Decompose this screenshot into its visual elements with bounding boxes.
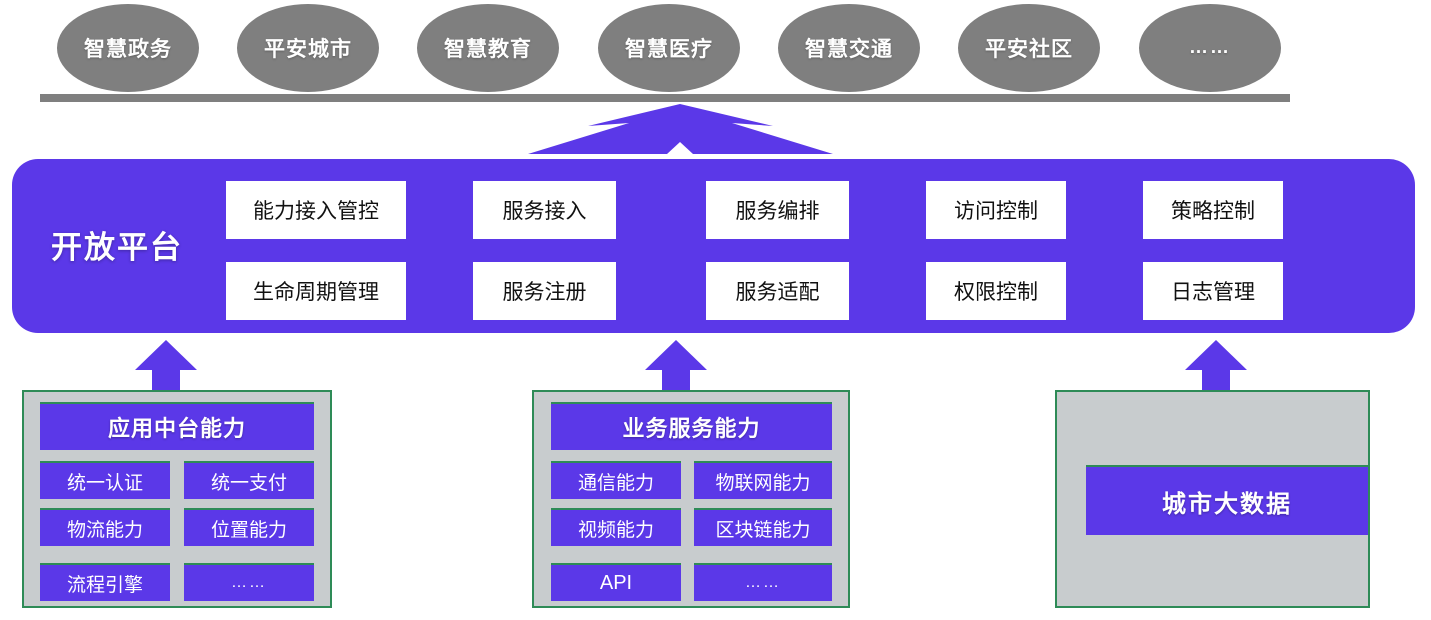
platform-box-permission-control[interactable]: 权限控制 xyxy=(926,262,1066,320)
app-ellipse-2[interactable]: 智慧教育 xyxy=(417,4,559,92)
app-ellipse-label: 智慧政务 xyxy=(84,33,172,63)
capability-tile-logistics[interactable]: 物流能力 xyxy=(40,508,170,546)
platform-box-lifecycle-management[interactable]: 生命周期管理 xyxy=(226,262,406,320)
app-ellipse-3[interactable]: 智慧医疗 xyxy=(598,4,740,92)
capability-tile-communication[interactable]: 通信能力 xyxy=(551,461,681,499)
app-ellipse-label: 平安社区 xyxy=(985,33,1073,63)
app-ellipse-1[interactable]: 平安城市 xyxy=(237,4,379,92)
platform-box-capability-access-control[interactable]: 能力接入管控 xyxy=(226,181,406,239)
platform-box-access-control[interactable]: 访问控制 xyxy=(926,181,1066,239)
platform-box-service-access[interactable]: 服务接入 xyxy=(473,181,616,239)
capability-tile-blockchain[interactable]: 区块链能力 xyxy=(694,508,832,546)
platform-box-label: 服务编排 xyxy=(736,195,820,225)
capability-card-header-label: 城市大数据 xyxy=(1162,484,1292,519)
app-ellipse-label: …… xyxy=(1189,37,1231,59)
platform-box-label: 服务接入 xyxy=(503,195,587,225)
capability-tile-label: 统一支付 xyxy=(211,468,287,495)
capability-tile-process-engine[interactable]: 流程引擎 xyxy=(40,563,170,601)
app-ellipse-0[interactable]: 智慧政务 xyxy=(57,4,199,92)
application-layer-baseline xyxy=(40,94,1290,102)
capability-tile-label: API xyxy=(600,572,632,595)
capability-tile-label: 流程引擎 xyxy=(67,570,143,597)
platform-box-label: 服务注册 xyxy=(503,276,587,306)
capability-card-header-city-bigdata[interactable]: 城市大数据 xyxy=(1086,465,1368,535)
platform-box-label: 服务适配 xyxy=(736,276,820,306)
app-ellipse-label: 平安城市 xyxy=(264,33,352,63)
capability-tile-video[interactable]: 视频能力 xyxy=(551,508,681,546)
capability-tile-label: 通信能力 xyxy=(578,468,654,495)
capability-card-header-business-service: 业务服务能力 xyxy=(551,402,832,450)
capability-tile-more-business[interactable]: …… xyxy=(694,563,832,601)
platform-box-service-registration[interactable]: 服务注册 xyxy=(473,262,616,320)
architecture-diagram: 智慧政务 平安城市 智慧教育 智慧医疗 智慧交通 平安社区 …… 开放平台 能力… xyxy=(0,0,1431,620)
arrow-app-midplatform-to-platform-icon xyxy=(135,340,197,392)
capability-tile-unified-auth[interactable]: 统一认证 xyxy=(40,461,170,499)
capability-tile-location[interactable]: 位置能力 xyxy=(184,508,314,546)
app-ellipse-6[interactable]: …… xyxy=(1139,4,1281,92)
capability-tile-label: …… xyxy=(231,574,267,592)
platform-box-label: 访问控制 xyxy=(954,195,1038,225)
app-ellipse-label: 智慧教育 xyxy=(444,33,532,63)
capability-tile-label: 物联网能力 xyxy=(715,468,810,495)
capability-card-header-app-midplatform: 应用中台能力 xyxy=(40,402,314,450)
platform-box-label: 策略控制 xyxy=(1171,195,1255,225)
capability-tile-label: 位置能力 xyxy=(211,515,287,542)
platform-box-label: 日志管理 xyxy=(1171,276,1255,306)
platform-box-label: 权限控制 xyxy=(954,276,1038,306)
capability-tile-label: 统一认证 xyxy=(67,468,143,495)
open-platform-title: 开放平台 xyxy=(22,222,212,267)
app-ellipse-label: 智慧交通 xyxy=(805,33,893,63)
capability-tile-label: …… xyxy=(745,574,781,592)
capability-tile-unified-payment[interactable]: 统一支付 xyxy=(184,461,314,499)
platform-box-label: 生命周期管理 xyxy=(253,276,379,306)
capability-tile-label: 物流能力 xyxy=(67,515,143,542)
platform-box-policy-control[interactable]: 策略控制 xyxy=(1143,181,1283,239)
capability-tile-label: 区块链能力 xyxy=(715,515,810,542)
capability-card-header-label: 应用中台能力 xyxy=(108,411,246,443)
app-ellipse-5[interactable]: 平安社区 xyxy=(958,4,1100,92)
arrow-platform-to-applications-icon xyxy=(528,104,833,156)
arrow-bigdata-to-platform-icon xyxy=(1185,340,1247,392)
capability-tile-more-app[interactable]: …… xyxy=(184,563,314,601)
capability-tile-api[interactable]: API xyxy=(551,563,681,601)
capability-tile-iot[interactable]: 物联网能力 xyxy=(694,461,832,499)
app-ellipse-4[interactable]: 智慧交通 xyxy=(778,4,920,92)
platform-box-service-adaptation[interactable]: 服务适配 xyxy=(706,262,849,320)
capability-card-header-label: 业务服务能力 xyxy=(622,411,760,443)
platform-box-service-orchestration[interactable]: 服务编排 xyxy=(706,181,849,239)
arrow-business-service-to-platform-icon xyxy=(645,340,707,392)
app-ellipse-label: 智慧医疗 xyxy=(625,33,713,63)
capability-tile-label: 视频能力 xyxy=(578,515,654,542)
platform-box-log-management[interactable]: 日志管理 xyxy=(1143,262,1283,320)
platform-box-label: 能力接入管控 xyxy=(253,195,379,225)
